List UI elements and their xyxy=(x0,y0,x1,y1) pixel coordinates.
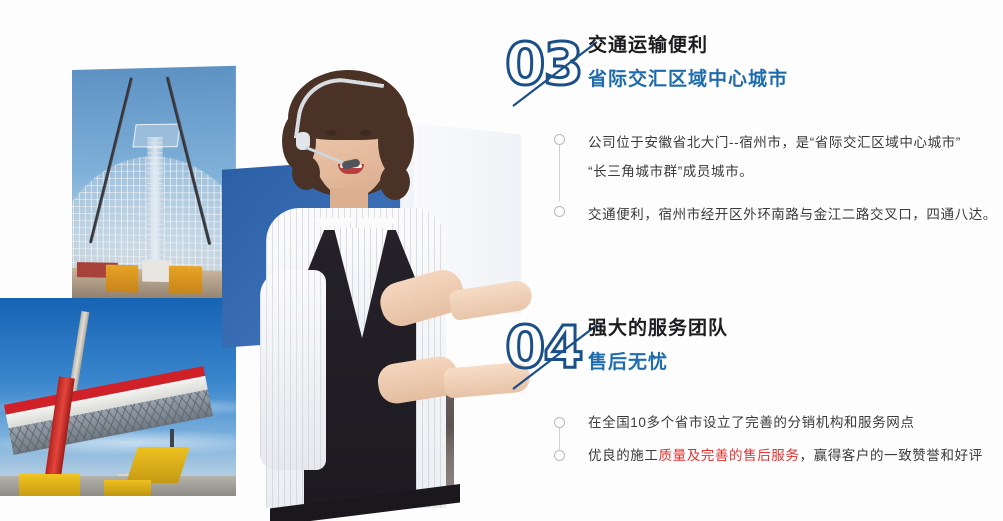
section-subtitle: 售后无忧 xyxy=(588,348,728,378)
dome-top-cap xyxy=(133,123,181,146)
section-header: 04 强大的服务团队 售后无忧 xyxy=(505,315,1003,395)
list-item: 在全国10多个省市设立了完善的分销机构和服务网点 xyxy=(554,411,1003,435)
bullet-circle-icon xyxy=(554,417,565,428)
section-number: 03 xyxy=(505,32,582,96)
list-item-text: 交通便利，宿州市经开区外环南路与金江二路交叉口，四通八达。 xyxy=(588,207,997,222)
section-header: 03 交通运输便利 省际交汇区域中心城市 xyxy=(505,32,1003,112)
feature-section-03: 03 交通运输便利 省际交汇区域中心城市 公司位于安徽省北大门--宿州市，是“省… xyxy=(505,32,1003,229)
section-number: 04 xyxy=(505,315,582,379)
steel-dome-construction-photo xyxy=(72,66,236,302)
bullet-circle-icon xyxy=(554,134,565,145)
section-titles: 交通运输便利 省际交汇区域中心城市 xyxy=(588,32,788,95)
list-item: 公司位于安徽省北大门--宿州市，是“省际交汇区域中心城市” “长三角城市群”成员… xyxy=(554,128,1003,186)
promo-banner: 03 交通运输便利 省际交汇区域中心城市 公司位于安徽省北大门--宿州市，是“省… xyxy=(0,0,1003,521)
dome-center-mast xyxy=(148,137,163,272)
hair-curl xyxy=(292,156,320,190)
list-item: 交通便利，宿州市经开区外环南路与金江二路交叉口，四通八达。 xyxy=(554,200,1003,229)
bullet-circle-icon xyxy=(554,450,565,461)
shirt-sleeve-left xyxy=(260,270,326,470)
image-collage xyxy=(0,0,530,521)
section-title: 强大的服务团队 xyxy=(588,315,728,342)
yellow-crane-truck xyxy=(19,474,80,496)
section-titles: 强大的服务团队 售后无忧 xyxy=(588,315,728,378)
crane-base-right xyxy=(169,266,202,295)
list-item: 优良的施工质量及完善的售后服务，赢得客户的一致赞誉和好评 xyxy=(554,444,1003,468)
list-item-text: 在全国10多个省市设立了完善的分销机构和服务网点 xyxy=(588,415,914,430)
bullet-list: 公司位于安徽省北大门--宿州市，是“省际交汇区域中心城市” “长三角城市群”成员… xyxy=(554,128,1003,229)
section-subtitle: 省际交汇区域中心城市 xyxy=(588,65,788,95)
highlighted-text: 质量及完善的售后服务 xyxy=(659,448,800,463)
crane-base-left xyxy=(105,264,137,292)
bullet-circle-icon xyxy=(554,206,565,217)
customer-service-presenter-photo xyxy=(230,60,530,521)
gas-station-canopy-lift-photo xyxy=(0,298,236,496)
section-title: 交通运输便利 xyxy=(588,32,788,59)
list-item-text: 优良的施工质量及完善的售后服务，赢得客户的一致赞誉和好评 xyxy=(588,448,983,463)
yellow-crane-truck xyxy=(104,480,151,496)
bullet-list: 在全国10多个省市设立了完善的分销机构和服务网点 优良的施工质量及完善的售后服务… xyxy=(554,411,1003,468)
hair-curl xyxy=(380,164,410,200)
content-column: 03 交通运输便利 省际交汇区域中心城市 公司位于安徽省北大门--宿州市，是“省… xyxy=(505,0,1003,521)
feature-section-04: 04 强大的服务团队 售后无忧 在全国10多个省市设立了完善的分销机构和服务网点 xyxy=(505,315,1003,477)
list-item-text: 公司位于安徽省北大门--宿州市，是“省际交汇区域中心城市” “长三角城市群”成员… xyxy=(588,135,961,179)
site-container xyxy=(143,260,173,281)
